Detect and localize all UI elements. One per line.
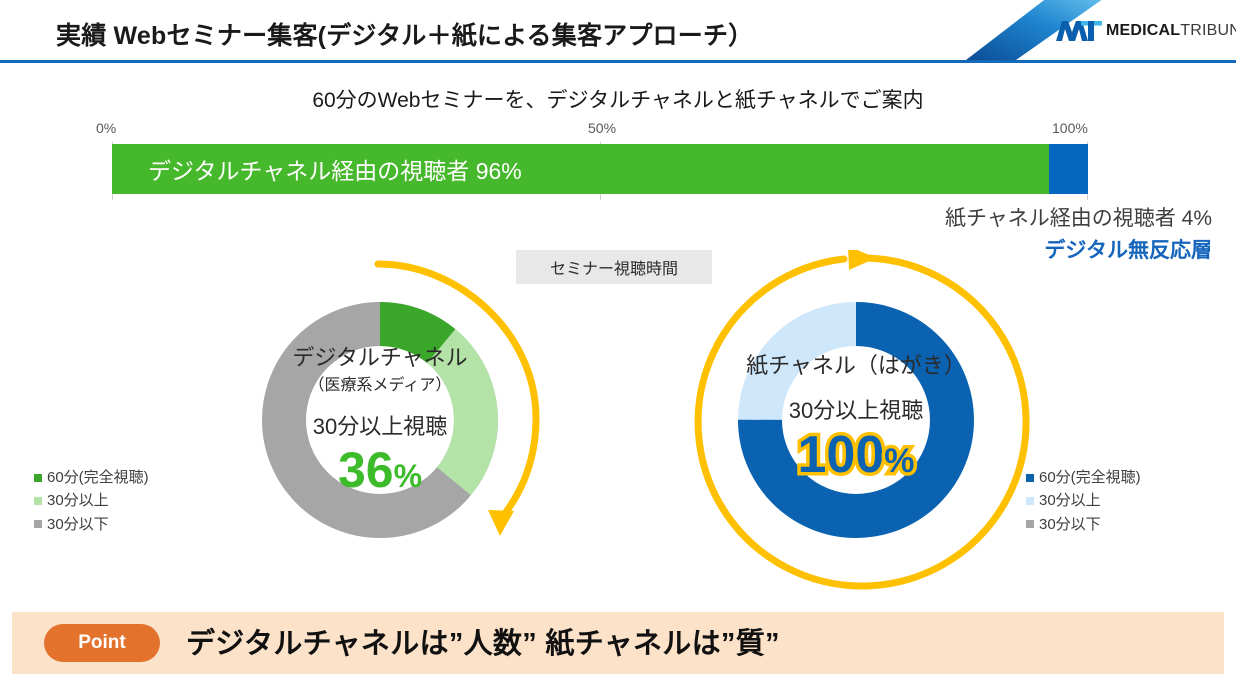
slide-root: 実績 Webセミナー集客(デジタル＋紙による集客アプローチ） MEDI [0, 0, 1236, 695]
legend-digital: 60分(完全視聴) 30分以上 30分以下 [34, 466, 149, 536]
axis-tick-0: 0% [96, 120, 116, 136]
arrow-arc-left-icon [340, 248, 570, 558]
logo-wordmark: MEDICALTRIBUNE [1106, 22, 1236, 40]
axis-tick-100: 100% [1052, 120, 1088, 136]
brand-logo: MEDICALTRIBUNE [960, 0, 1236, 60]
legend-swatch-icon [1026, 474, 1034, 482]
legend-label: 30分以下 [1039, 513, 1101, 536]
bar-segment-digital: デジタルチャネル経由の視聴者 96% [112, 144, 1049, 194]
legend-item: 60分(完全視聴) [1026, 466, 1141, 489]
page-title: 実績 Webセミナー集客(デジタル＋紙による集客アプローチ） [56, 16, 753, 52]
legend-label: 30分以上 [1039, 489, 1101, 512]
legend-item: 30分以上 [34, 489, 149, 512]
bar-segment-digital-label: デジタルチャネル経由の視聴者 96% [148, 152, 522, 186]
legend-swatch-icon [1026, 497, 1034, 505]
legend-label: 30分以下 [47, 513, 109, 536]
legend-label: 60分(完全視聴) [47, 466, 149, 489]
paper-channel-note-line1: 紙チャネル経由の視聴者 4% [640, 202, 1212, 232]
legend-paper: 60分(完全視聴) 30分以上 30分以下 [1026, 466, 1141, 536]
legend-item: 30分以下 [1026, 513, 1141, 536]
axis-tick-50: 50% [588, 120, 616, 136]
legend-item: 60分(完全視聴) [34, 466, 149, 489]
legend-swatch-icon [34, 497, 42, 505]
logo-word-medical: MEDICAL [1106, 22, 1180, 39]
legend-swatch-icon [34, 520, 42, 528]
subtitle: 60分のWebセミナーを、デジタルチャネルと紙チャネルでご案内 [0, 84, 1236, 114]
logo-word-tribune: TRIBUNE [1180, 22, 1236, 39]
legend-item: 30分以下 [34, 513, 149, 536]
point-badge: Point [44, 624, 160, 662]
point-message: デジタルチャネルは”人数” 紙チャネルは”質” [186, 620, 780, 662]
arrow-arc-right-icon [686, 250, 1030, 594]
legend-swatch-icon [34, 474, 42, 482]
legend-label: 30分以上 [47, 489, 109, 512]
bar-segment-paper [1049, 144, 1088, 194]
slide-header: 実績 Webセミナー集客(デジタル＋紙による集客アプローチ） MEDI [0, 0, 1236, 62]
logo-mt-icon [1055, 20, 1103, 42]
stacked-bar-chart: デジタルチャネル経由の視聴者 96% [112, 144, 1088, 194]
bar-axis: 0% 50% 100% [112, 120, 1088, 142]
header-divider [0, 60, 1236, 63]
legend-swatch-icon [1026, 520, 1034, 528]
legend-item: 30分以上 [1026, 489, 1141, 512]
legend-label: 60分(完全視聴) [1039, 466, 1141, 489]
